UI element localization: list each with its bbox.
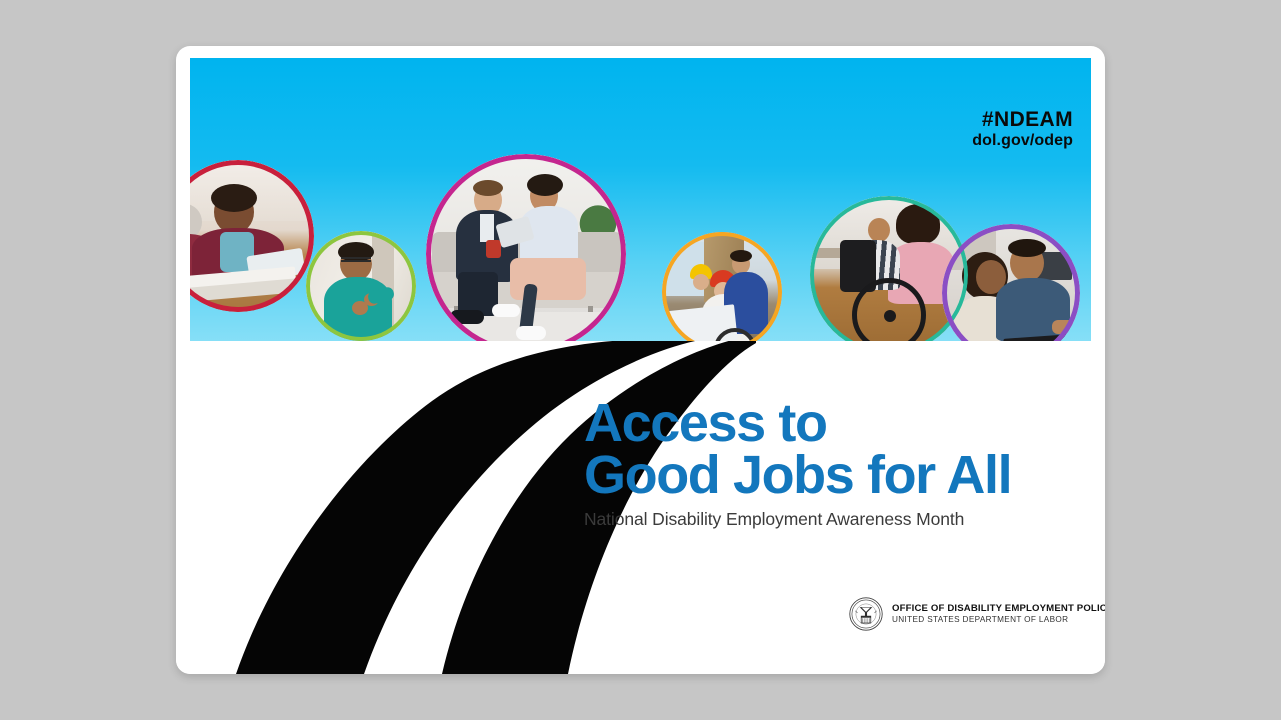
photo-circle-man-signing (306, 231, 416, 341)
person-head (693, 274, 709, 290)
photo-banner: #NDEAM dol.gov/odep (190, 58, 1091, 341)
hand (1052, 320, 1074, 334)
coffee-cup (486, 240, 501, 258)
photo-content (190, 160, 314, 312)
hair (211, 184, 257, 212)
hashtag-text: #NDEAM (972, 108, 1073, 132)
person-head (868, 218, 890, 242)
photo-content (426, 154, 626, 341)
shoe (450, 310, 484, 324)
odep-wordmark: OFFICE OF DISABILITY EMPLOYMENT POLICY U… (892, 603, 1105, 625)
shoe (492, 304, 520, 317)
headline-subtitle: National Disability Employment Awareness… (584, 509, 1084, 530)
skirt (510, 258, 586, 300)
photo-circle-couch-tablet (426, 154, 626, 341)
poster-card: #NDEAM dol.gov/odep (176, 46, 1105, 674)
hair (1008, 239, 1046, 257)
photo-circle-computer-work (942, 224, 1080, 341)
eyeglasses (341, 257, 371, 262)
hair (473, 180, 503, 196)
us-department-of-labor-seal-icon (849, 597, 883, 631)
headline-line-2: Good Jobs for All (584, 449, 1084, 501)
shoe (516, 326, 546, 340)
odep-office-name: OFFICE OF DISABILITY EMPLOYMENT POLICY (892, 603, 1105, 615)
photo-circle-construction (662, 232, 782, 341)
photo-content (942, 224, 1080, 341)
wheelchair-hub (884, 310, 896, 322)
poster-canvas: #NDEAM dol.gov/odep (0, 0, 1281, 720)
photo-content (306, 231, 416, 341)
hashtag-block: #NDEAM dol.gov/odep (972, 108, 1073, 149)
hair (527, 174, 563, 196)
dress-shirt (480, 214, 494, 242)
message-area: Access to Good Jobs for All National Dis… (176, 341, 1105, 674)
headline-line-1: Access to (584, 397, 1084, 449)
headline-block: Access to Good Jobs for All National Dis… (584, 397, 1084, 530)
hair (896, 204, 940, 244)
photo-circle-woman-with-tablet (190, 160, 314, 312)
photo-content (662, 232, 782, 341)
hair (730, 250, 752, 262)
website-url: dol.gov/odep (972, 132, 1073, 150)
odep-department-name: UNITED STATES DEPARTMENT OF LABOR (892, 615, 1105, 625)
odep-logo: OFFICE OF DISABILITY EMPLOYMENT POLICY U… (849, 597, 1105, 631)
